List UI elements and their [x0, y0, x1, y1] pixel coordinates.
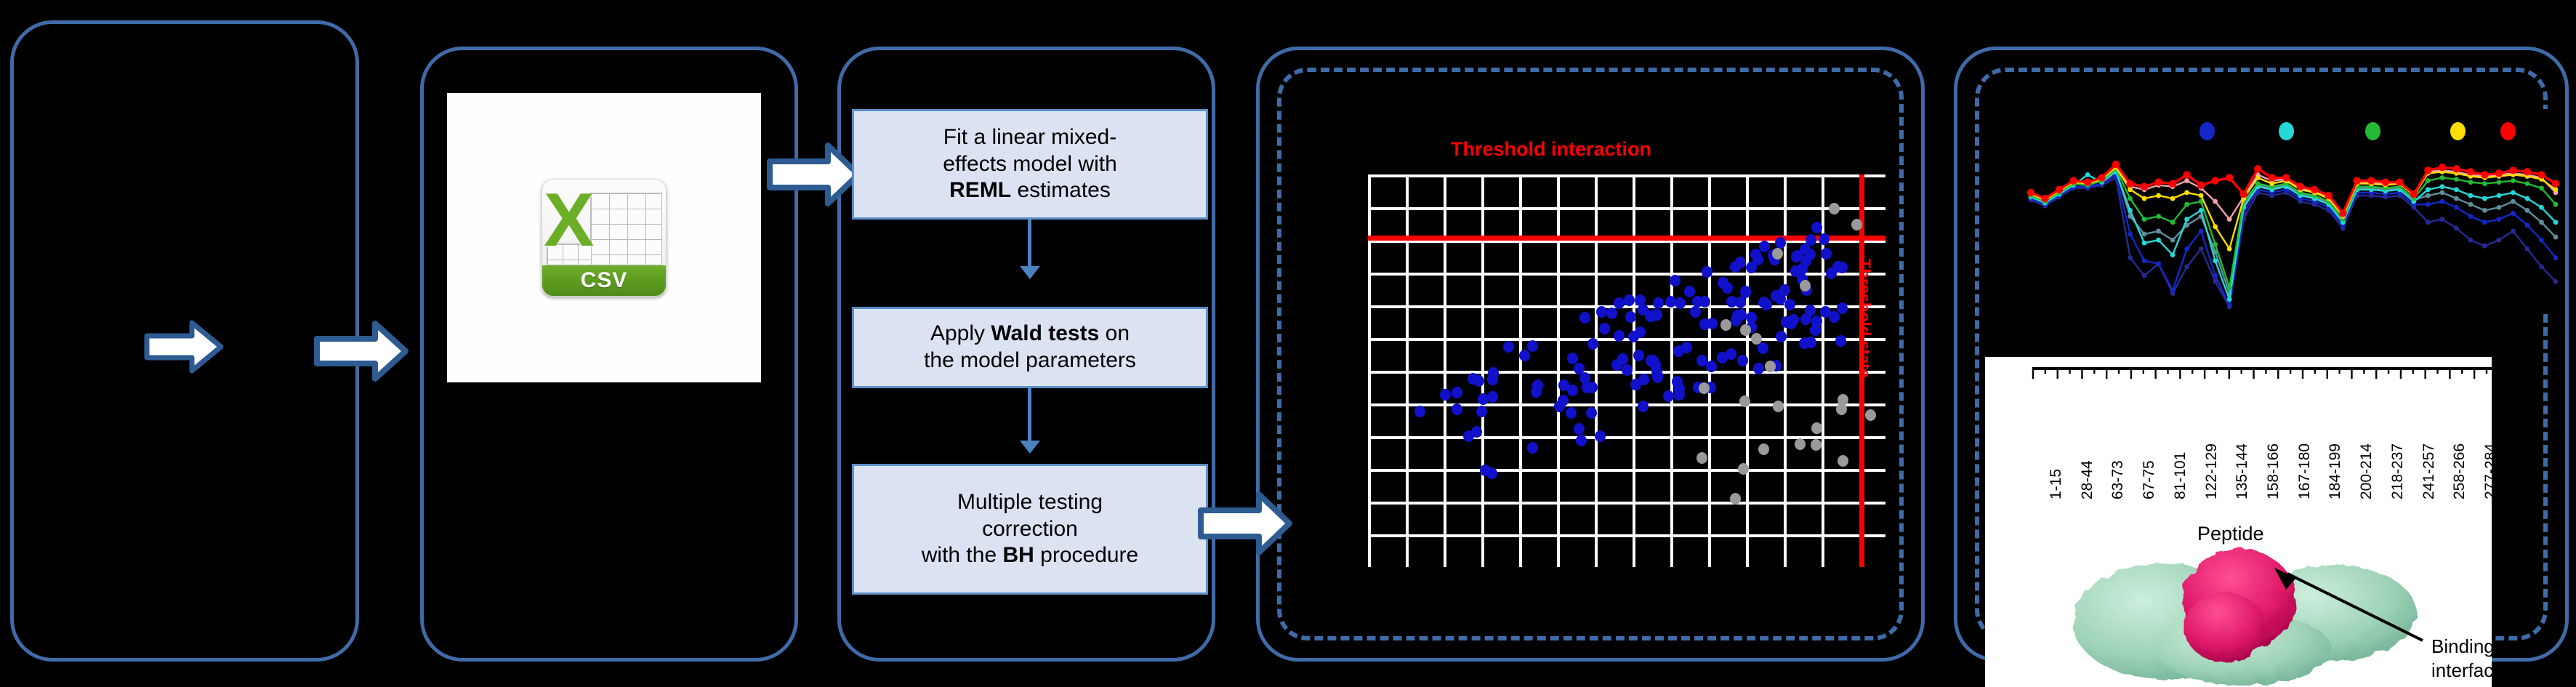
legend-dot-red [2500, 122, 2516, 140]
peptide-series-marker [2199, 229, 2204, 234]
peptide-tick-label: 200-214 [2358, 443, 2375, 499]
peptide-series-marker [2142, 258, 2147, 263]
connector-wald-to-bh [1028, 388, 1031, 445]
peptide-tick-label: 241-257 [2420, 443, 2438, 499]
peptide-series-marker [2142, 232, 2147, 237]
peptide-tick-label: 122-129 [2203, 443, 2221, 499]
scatter-point [1800, 280, 1811, 292]
peptide-series-line [2031, 172, 2556, 299]
scatter-point [1692, 296, 1703, 308]
peptide-series-marker [2184, 264, 2189, 269]
peptide-tick-label: 158-166 [2265, 443, 2282, 499]
peptide-series-marker [2468, 202, 2474, 207]
peptide-series-marker [2199, 246, 2204, 252]
legend-dot-blue [2199, 122, 2215, 140]
peptide-series-marker [2468, 193, 2474, 198]
scatter-point [1811, 316, 1822, 327]
peptide-series-marker [2269, 181, 2274, 186]
peptide-series-marker [2511, 211, 2516, 216]
peptide-tick-label: 218-237 [2389, 443, 2407, 499]
peptide-series-marker [2497, 238, 2502, 243]
peptide-series-marker [2439, 217, 2444, 222]
arrow-steps-to-scatter [1198, 489, 1292, 558]
peptide-tick-label: 135-144 [2234, 443, 2251, 499]
step-box-bh: Multiple testing correction with the BH … [852, 464, 1208, 595]
binding-interface-arrow [2270, 568, 2430, 648]
scatter-point [1739, 395, 1750, 407]
peptide-series-marker [2184, 202, 2189, 207]
scatter-point [1670, 275, 1681, 286]
peptide-series-marker [2227, 246, 2232, 252]
scatter-point [1587, 382, 1598, 393]
peptide-series-marker [2184, 178, 2189, 183]
step-wald-line1-post: on [1099, 321, 1130, 345]
scatter-point [1772, 248, 1783, 260]
scatter-point [1799, 337, 1810, 349]
scatter-point [1826, 268, 1837, 279]
peptide-series-marker [2069, 177, 2077, 184]
peptide-series-marker [2511, 178, 2516, 183]
peptide-series-marker [2439, 175, 2444, 180]
peptide-series-marker [2525, 208, 2530, 213]
scatter-point [1819, 233, 1830, 245]
peptide-series-marker [2552, 180, 2559, 187]
peptide-series-marker [2454, 187, 2459, 192]
peptide-series-marker [2426, 193, 2431, 198]
peptide-series-marker [2170, 252, 2175, 257]
peptide-series-marker [2027, 189, 2034, 196]
peptide-series-marker [2213, 242, 2218, 247]
peptide-series-marker [2170, 238, 2175, 243]
scatter-point [1829, 203, 1840, 214]
peptide-series-marker [2211, 177, 2218, 184]
legend-dot-cyan [2279, 122, 2294, 140]
scatter-point [1835, 335, 1846, 347]
peptide-series-marker [2511, 229, 2516, 234]
peptide-series-marker [2426, 187, 2431, 192]
peptide-series-marker [2454, 196, 2459, 201]
peptide-series-marker [2525, 222, 2530, 228]
scatter-point [1663, 390, 1674, 402]
step-reml-line2: effects model with [943, 151, 1117, 178]
peptide-series-marker [2553, 187, 2559, 192]
scatter-point [1730, 493, 1741, 505]
scatter-point [1758, 297, 1769, 308]
peptide-tick-label: 63-73 [2109, 460, 2127, 499]
peptide-tick-label: 1-15 [2048, 469, 2065, 499]
scatter-point [1737, 355, 1748, 366]
peptide-series-marker [2311, 186, 2318, 193]
peptide-series-marker [2156, 261, 2161, 266]
peptide-series-marker [2128, 208, 2133, 213]
scatter-point [1625, 311, 1636, 323]
scatter-point [1746, 312, 1757, 324]
step-reml-line1: Fit a linear mixed- [943, 124, 1117, 151]
binding-interface-line1: Binding [2431, 635, 2492, 659]
scatter-point [1652, 370, 1663, 382]
peptide-series-marker [2213, 258, 2218, 263]
scatter-point [1795, 438, 1806, 450]
scatter-point [1720, 319, 1731, 331]
step-bh-line3-post: procedure [1034, 543, 1138, 567]
peptide-series-marker [2539, 185, 2544, 190]
scatter-point [1487, 374, 1498, 385]
peptide-series-marker [2213, 224, 2218, 229]
peptide-series-marker [2128, 196, 2133, 201]
scatter-point [1614, 330, 1625, 342]
scatter-point [1452, 403, 1462, 415]
binding-interface-label: Binding interface [2431, 635, 2492, 682]
peptide-series-marker [2439, 190, 2444, 195]
scatter-point [1805, 305, 1816, 316]
peptide-series-marker [2497, 180, 2502, 185]
scatter-point [1790, 265, 1801, 277]
arrow-csv-to-steps [767, 140, 861, 209]
scatter-point [1672, 376, 1683, 387]
peptide-series-marker [2539, 205, 2544, 210]
legend-dot-green [2365, 122, 2380, 140]
scatter-point [1595, 430, 1606, 442]
peptide-series-marker [2525, 181, 2530, 186]
step-wald-emphasis: Wald tests [991, 321, 1099, 345]
peptide-series-marker [2128, 255, 2133, 260]
step-reml-line3: REML estimates [943, 177, 1117, 204]
scatter-point [1638, 401, 1649, 412]
peptide-tick-label: 184-199 [2327, 443, 2344, 499]
peptide-tick-label: 28-44 [2079, 460, 2096, 499]
peptide-series-marker [2439, 164, 2446, 171]
scatter-point [1690, 306, 1701, 318]
scatter-point [1567, 385, 1578, 396]
scatter-point [1806, 234, 1816, 246]
peptide-series-marker [2255, 181, 2261, 186]
peptide-series-marker [2553, 255, 2559, 260]
scatter-point [1784, 299, 1795, 310]
scatter-point [1576, 435, 1587, 446]
scatter-point [1838, 455, 1848, 467]
step-wald-line1: Apply Wald tests on [924, 321, 1136, 347]
scatter-point [1527, 340, 1538, 352]
peptide-series-marker [2468, 214, 2474, 219]
scatter-point [1821, 248, 1832, 260]
peptide-series-marker [2227, 217, 2232, 222]
peptide-series-marker [2126, 180, 2133, 187]
peptide-series-marker [2396, 178, 2403, 185]
connector-reml-to-wald-arrowhead [1020, 266, 1040, 279]
peptide-series-marker [2553, 202, 2559, 207]
peptide-series-marker [2525, 196, 2530, 201]
csv-format-label: CSV [581, 270, 628, 292]
scatter-point [1599, 323, 1610, 334]
peptide-series-marker [2170, 288, 2175, 293]
peptide-series-marker [2142, 217, 2147, 222]
scatter-point [1624, 294, 1635, 306]
peptide-series-marker [2452, 165, 2460, 172]
peptide-tick-label: 81-101 [2172, 452, 2189, 499]
scatter-point [1752, 254, 1763, 265]
peptide-profile-svg [1993, 109, 2560, 313]
peptide-series-marker [2482, 196, 2487, 201]
peptide-series-marker [2184, 217, 2189, 222]
peptide-series-marker [2367, 177, 2375, 184]
peptide-series-marker [2156, 214, 2161, 219]
binding-interface-line2: interface [2431, 659, 2492, 683]
step-box-reml: Fit a linear mixed- effects model with R… [852, 109, 1208, 220]
peptide-series-marker [2426, 202, 2431, 207]
peptide-series-marker [2184, 190, 2189, 195]
step-bh-line1: Multiple testing [922, 489, 1139, 516]
peptide-series-marker [2539, 264, 2544, 269]
peptide-series-marker [2426, 220, 2431, 225]
scatter-point [1758, 443, 1769, 455]
peptide-series-marker [2169, 180, 2176, 187]
arrow-into-panel-1 [144, 318, 224, 375]
scatter-point [1775, 237, 1786, 249]
scatter-point [1738, 463, 1749, 475]
scatter-point [1706, 361, 1717, 372]
peptide-series-marker [2339, 209, 2346, 217]
peptide-series-line [2031, 174, 2556, 305]
peptide-series-marker [2482, 244, 2487, 249]
peptide-series-marker [2141, 183, 2148, 190]
scatter-point [1779, 284, 1790, 296]
scatter-point [1740, 286, 1751, 297]
threshold-interaction-label: Threshold interaction [1451, 138, 1651, 161]
peptide-series-marker [2227, 303, 2232, 308]
csv-spreadsheet-grid [590, 193, 662, 265]
peptide-series-marker [2482, 181, 2487, 186]
peptide-series-marker [2128, 232, 2133, 237]
scatter-point [1735, 257, 1746, 268]
scatter-point [1811, 422, 1822, 434]
peptide-series-marker [2354, 177, 2361, 184]
peptide-series-marker [2282, 174, 2290, 181]
scatter-point [1740, 324, 1751, 336]
peptide-series-marker [2142, 273, 2147, 278]
scatter-point [1480, 465, 1491, 476]
scatter-point [1707, 318, 1718, 329]
step-bh-line3-pre: with the [922, 543, 1003, 567]
scatter-point [1753, 363, 1764, 374]
scatter-point [1558, 395, 1569, 406]
peptide-series-marker [2468, 238, 2474, 243]
scatter-point [1702, 266, 1712, 278]
peptide-series-marker [2226, 174, 2233, 181]
scatter-point [1503, 341, 1514, 353]
peptide-series-marker [2537, 171, 2545, 178]
scatter-point [1566, 407, 1577, 419]
peptide-tick-label: 277-284 [2482, 443, 2492, 499]
csv-file-icon: X CSV [542, 179, 667, 297]
peptide-series-marker [2424, 166, 2431, 174]
scatter-point [1735, 297, 1746, 308]
scatter-point [1732, 310, 1743, 321]
scatter-point [1837, 262, 1848, 273]
peptide-series-marker [2197, 181, 2205, 188]
step-bh-line3: with the BH procedure [922, 542, 1139, 569]
scatter-point [1622, 364, 1633, 376]
scatter-point [1487, 391, 1498, 403]
scatter-point [1476, 406, 1487, 417]
peptide-series-marker [2539, 220, 2544, 225]
scatter-point [1837, 302, 1848, 314]
scatter-point [1811, 222, 1822, 233]
step-reml-line3-rest: estimates [1011, 178, 1111, 202]
csv-file-card: X CSV [447, 93, 761, 382]
scatter-point [1699, 382, 1710, 394]
scatter-point [1758, 342, 1768, 354]
scatter-point [1452, 387, 1462, 398]
step-bh-line2: correction [922, 516, 1139, 543]
scatter-point [1829, 311, 1840, 323]
peptide-series-line [2031, 169, 2556, 287]
scatter-point [1630, 379, 1641, 390]
scatter-point [1414, 406, 1425, 417]
peptide-series-marker [2240, 190, 2247, 198]
peptide-series-marker [2085, 172, 2090, 177]
scatter-point [1440, 389, 1451, 401]
peptide-series-marker [2156, 238, 2161, 243]
scatter-point [1635, 294, 1646, 306]
peptide-series-marker [2439, 199, 2444, 204]
step-wald-line2: the model parameters [924, 347, 1136, 374]
legend-dot-yellow [2450, 122, 2466, 140]
peptide-series-marker [2454, 177, 2459, 182]
peptide-series-marker [2382, 178, 2389, 185]
peptide-series-marker [2142, 196, 2147, 201]
scatter-point [1681, 342, 1692, 353]
peptide-series-marker [2525, 246, 2530, 252]
peptide-series-marker [2426, 178, 2431, 183]
peptide-series-marker [2553, 220, 2559, 225]
scatter-threshold-chart: Threshold interaction Threshold state [1327, 135, 1887, 600]
peptide-tick-label: 258-266 [2451, 443, 2468, 499]
arrow-panel1-to-csv [314, 318, 408, 384]
peptide-series-marker [2497, 217, 2502, 222]
scatter-point [1653, 297, 1664, 309]
scatter-point [1596, 306, 1607, 318]
peptide-series-marker [2509, 166, 2516, 174]
peptide-series-marker [2297, 183, 2304, 190]
step-reml-emphasis: REML [949, 178, 1011, 202]
scatter-point [1606, 308, 1617, 319]
scatter-point [1527, 442, 1538, 454]
peptide-series-marker [2269, 174, 2276, 181]
peptide-tick-label: 67-75 [2141, 460, 2158, 499]
peptide-series-marker [2539, 238, 2544, 243]
peptide-series-marker [2467, 168, 2474, 175]
peptide-series-marker [2154, 178, 2162, 185]
peptide-series-marker [2454, 205, 2459, 210]
scatter-point [1586, 407, 1597, 419]
peptide-y-tick-zero: 0.0 [1992, 336, 2017, 357]
peptide-series-marker [2524, 168, 2531, 175]
threshold-state-label: Threshold state [1855, 259, 1874, 378]
connector-reml-to-wald [1028, 220, 1031, 270]
step-bh-emphasis: BH [1002, 543, 1034, 567]
csv-format-bar: CSV [542, 265, 666, 296]
scatter-point [1579, 312, 1590, 324]
peptide-series-marker [2156, 229, 2161, 234]
peptide-series-marker [2199, 193, 2204, 198]
peptide-series-marker [2084, 178, 2091, 185]
scatter-point [1675, 297, 1686, 309]
peptide-series-marker [2497, 193, 2502, 198]
peptide-series-marker [2213, 199, 2218, 204]
peptide-series-marker [2112, 161, 2120, 168]
scatter-plot-area [1368, 174, 1885, 567]
scatter-point [1614, 297, 1625, 309]
peptide-tick-label: 167-180 [2296, 443, 2314, 499]
peptide-series-marker [2439, 184, 2444, 189]
peptide-series-marker [2142, 241, 2147, 246]
scatter-point [1633, 350, 1644, 361]
peptide-series-marker [2041, 195, 2048, 202]
peptide-series-marker [2325, 192, 2333, 199]
peptide-series-marker [2098, 174, 2105, 181]
scatter-point [1800, 255, 1811, 267]
peptide-series-marker [2497, 205, 2502, 210]
scatter-point [1773, 401, 1784, 412]
peptide-series-marker [2156, 193, 2161, 198]
scatter-point [1635, 326, 1646, 338]
excel-x-glyph: X [544, 182, 594, 258]
step-wald-line1-pre: Apply [930, 321, 991, 345]
scatter-point [1519, 350, 1530, 361]
peptide-profile-chart [1993, 109, 2560, 313]
peptide-series-marker [2482, 220, 2487, 225]
scatter-point [1684, 286, 1695, 297]
scatter-point [1836, 403, 1847, 415]
peptide-series-marker [2184, 246, 2189, 252]
peptide-series-marker [2553, 235, 2559, 240]
scatter-point [1587, 338, 1598, 350]
step-box-wald: Apply Wald tests on the model parameters [852, 307, 1208, 388]
peptide-series-marker [2482, 208, 2487, 213]
peptide-series-marker [2227, 285, 2232, 290]
peptide-series-marker [2183, 171, 2190, 178]
peptide-axis-ticks [1985, 367, 2492, 386]
scatter-point [1811, 439, 1822, 451]
peptide-series-marker [2511, 199, 2516, 204]
scatter-point [1696, 452, 1707, 464]
scatter-point [1726, 348, 1736, 360]
peptide-series-marker [2170, 196, 2175, 201]
peptide-series-marker [2454, 225, 2459, 230]
peptide-series-marker [2255, 175, 2261, 180]
peptide-series-marker [2511, 190, 2516, 195]
scatter-point [1751, 333, 1762, 345]
peptide-series-marker [2495, 169, 2503, 177]
peptide-series-marker [2170, 220, 2175, 225]
scatter-point [1531, 386, 1542, 398]
peptide-series-marker [2481, 171, 2488, 178]
peptide-series-marker [2254, 165, 2261, 172]
scatter-point [1776, 331, 1787, 342]
scatter-point [1722, 282, 1733, 294]
peptide-axis-and-structure-card: Peptide [1985, 357, 2492, 687]
peptide-series-marker [2410, 190, 2418, 198]
peptide-series-marker [2227, 297, 2232, 302]
peptide-series-marker [2213, 273, 2218, 278]
connector-wald-to-bh-arrowhead [1020, 441, 1040, 454]
peptide-series-marker [2468, 180, 2474, 185]
workflow-figure: X CSV Fit a linear mixed- effects model … [0, 0, 2576, 687]
scatter-point [1651, 309, 1662, 321]
peptide-series-marker [2553, 279, 2559, 284]
scatter-point [1574, 423, 1585, 435]
peptide-series-marker [2128, 187, 2133, 192]
